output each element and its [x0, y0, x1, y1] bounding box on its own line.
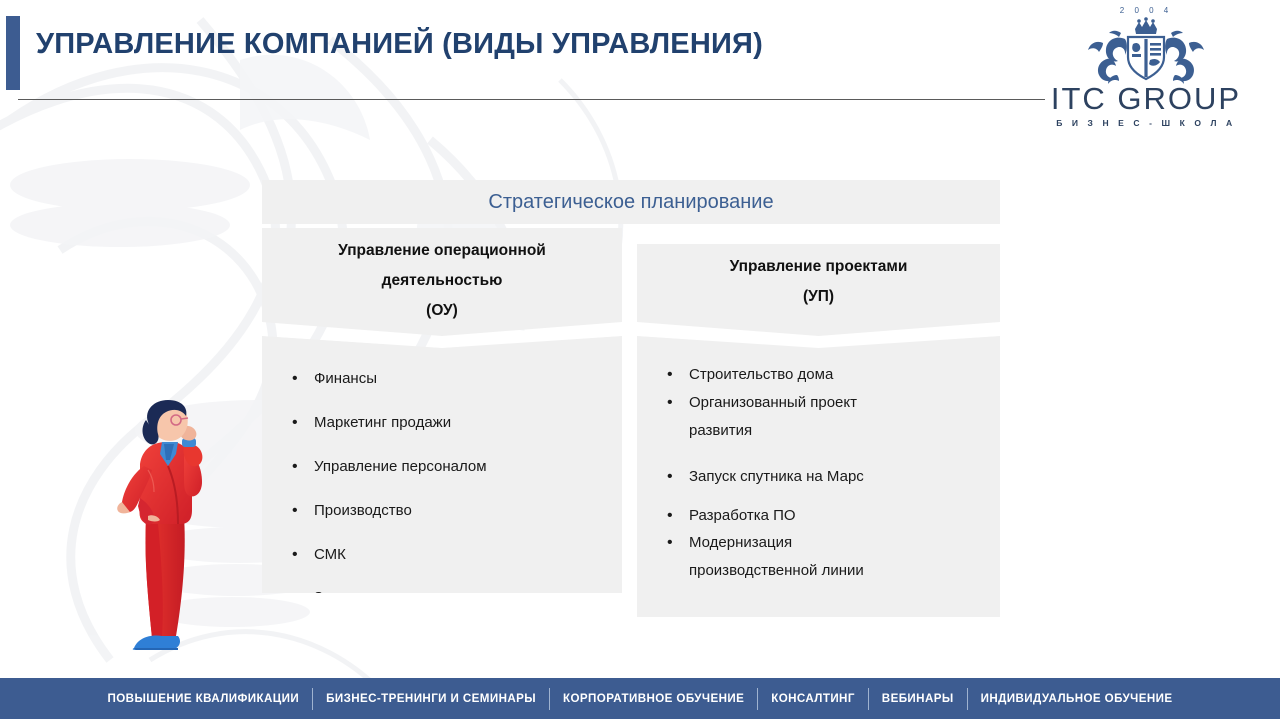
logo-year-label: 2 0 0 4: [1040, 6, 1252, 15]
footer-item-professional-development[interactable]: ПОВЫШЕНИЕ КВАЛИФИКАЦИИ: [95, 678, 313, 719]
column-left-title-line3: (ОУ): [276, 296, 608, 326]
list-item: Управление персоналом: [280, 458, 604, 477]
column-right-title-line2: (УП): [651, 282, 986, 312]
list-item: Организованный проект: [655, 394, 982, 413]
page-title: УПРАВЛЕНИЕ КОМПАНИЕЙ (ВИДЫ УПРАВЛЕНИЯ): [36, 28, 763, 61]
title-accent-bar: [6, 16, 20, 90]
column-left-title-line1: Управление операционной: [276, 236, 608, 266]
list-item: Модернизация: [655, 534, 982, 553]
column-project-management: Управление проектами (УП) Строительство …: [637, 244, 1000, 617]
footer-item-corporate-training[interactable]: КОРПОРАТИВНОЕ ОБУЧЕНИЕ: [550, 678, 757, 719]
column-left-body: Финансы Маркетинг продажи Управление пер…: [262, 336, 622, 593]
strategic-planning-label: Стратегическое планирование: [488, 191, 773, 214]
column-operational-management: Управление операционной деятельностью (О…: [262, 228, 622, 593]
column-left-title-line2: деятельностью: [276, 266, 608, 296]
list-item: Строительство дома: [655, 366, 982, 385]
footer-item-webinars[interactable]: ВЕБИНАРЫ: [869, 678, 967, 719]
column-left-header: Управление операционной деятельностью (О…: [262, 228, 622, 336]
footer-item-business-trainings[interactable]: БИЗНЕС-ТРЕНИНГИ И СЕМИНАРЫ: [313, 678, 549, 719]
list-item: СМК: [280, 546, 604, 565]
itc-group-logo: 2 0 0 4: [1040, 6, 1252, 128]
operational-items-list: Финансы Маркетинг продажи Управление пер…: [280, 370, 604, 608]
list-item: Производство: [280, 502, 604, 521]
title-divider-rule: [18, 99, 1045, 100]
column-right-header: Управление проектами (УП): [637, 244, 1000, 336]
project-items-list: Строительство дома Организованный проект…: [655, 366, 982, 581]
list-item-continuation: развития: [655, 422, 982, 441]
management-types-diagram: Стратегическое планирование Управление о…: [262, 180, 1000, 616]
list-item: Маркетинг продажи: [280, 414, 604, 433]
logo-name: ITC GROUP: [1040, 83, 1252, 115]
list-item: Закупки: [280, 589, 604, 608]
list-item-continuation: производственной линии: [655, 562, 982, 581]
thinking-businesswoman-illustration: [96, 398, 246, 666]
footer-item-consulting[interactable]: КОНСАЛТИНГ: [758, 678, 868, 719]
list-item: Финансы: [280, 370, 604, 389]
strategic-planning-header: Стратегическое планирование: [262, 180, 1000, 224]
list-item: Запуск спутника на Марс: [655, 468, 982, 487]
logo-subtitle: Б И З Н Е С - Ш К О Л А: [1040, 118, 1252, 128]
column-right-body: Строительство дома Организованный проект…: [637, 336, 1000, 617]
crest-icon: [1073, 13, 1219, 87]
list-item: Разработка ПО: [655, 507, 982, 526]
column-right-title-line1: Управление проектами: [651, 252, 986, 282]
footer-navigation-bar: ПОВЫШЕНИЕ КВАЛИФИКАЦИИ БИЗНЕС-ТРЕНИНГИ И…: [0, 678, 1280, 719]
footer-item-individual-training[interactable]: ИНДИВИДУАЛЬНОЕ ОБУЧЕНИЕ: [968, 678, 1186, 719]
